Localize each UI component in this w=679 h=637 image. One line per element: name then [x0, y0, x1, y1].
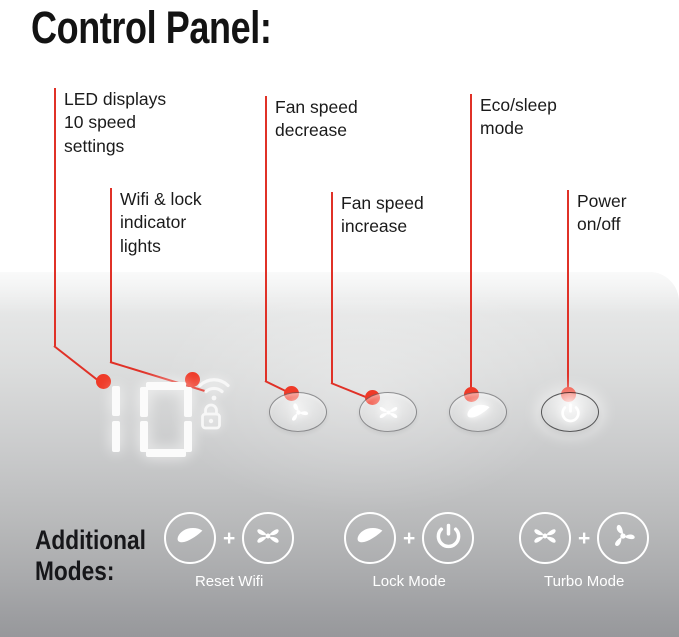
callout-fan-decrease: Fan speed decrease [275, 96, 358, 143]
leaf-icon [176, 526, 204, 551]
fan-3-blade-icon [609, 522, 637, 555]
plus-sign: + [578, 528, 590, 549]
control-panel-infographic: Control Panel: LED displays 10 speed set… [0, 0, 679, 637]
led-digit-0-seg-bottom-right [184, 421, 192, 452]
plus-sign: + [223, 528, 235, 549]
led-digit-1-seg-right-top [112, 386, 120, 416]
plus-sign: + [403, 528, 415, 549]
callout-fan-increase: Fan speed increase [341, 192, 424, 239]
fan-speed-increase-button[interactable] [359, 392, 417, 432]
led-digit-1-seg-right-bottom [112, 421, 120, 452]
led-digit-0-seg-bottom-left [140, 421, 148, 452]
led-digit-0-seg-top-left [140, 387, 148, 417]
callout-power: Power on/off [577, 190, 627, 237]
callout-eco-sleep: Eco/sleep mode [480, 94, 557, 141]
leader-line-led-display [54, 88, 56, 346]
mode-group-lock-mode: + Lock Mode [344, 512, 474, 590]
fan-3-blade-icon [287, 401, 310, 424]
fan-speed-decrease-button[interactable] [269, 392, 327, 432]
led-digit-0-seg-top [146, 382, 186, 390]
mode-row: + [164, 512, 294, 564]
leaf-icon-button[interactable] [344, 512, 396, 564]
led-display [100, 380, 210, 458]
fan-4-blade-icon [377, 401, 400, 424]
leader-line-fan-increase [331, 192, 333, 383]
eco-sleep-button[interactable] [449, 392, 507, 432]
mode-name-turbo-mode: Turbo Mode [544, 573, 624, 590]
leaf-icon-button[interactable] [164, 512, 216, 564]
mode-row: + [344, 512, 474, 564]
power-icon [560, 402, 581, 423]
leader-line-power [567, 190, 569, 394]
leader-line-eco-sleep [470, 94, 472, 394]
mode-name-reset-wifi: Reset Wifi [195, 573, 263, 590]
fan-4-blade-icon [254, 522, 282, 555]
fan-3-blade-icon-button[interactable] [597, 512, 649, 564]
fan-4-blade-icon-button[interactable] [242, 512, 294, 564]
power-button[interactable] [541, 392, 599, 432]
fan-4-blade-icon-button[interactable] [519, 512, 571, 564]
leader-line-indicator-lights [110, 188, 112, 362]
leaf-icon [466, 403, 491, 421]
additional-modes-label: Additional Modes: [35, 525, 146, 586]
led-digit-0-seg-top-right [184, 387, 192, 417]
mode-group-turbo-mode: + Turbo Mode [519, 512, 649, 590]
power-icon [435, 522, 462, 554]
led-digit-0-seg-bottom [146, 449, 186, 457]
callout-indicator-lights: Wifi & lock indicator lights [120, 188, 202, 258]
leader-line-fan-decrease [265, 96, 267, 381]
fan-4-blade-icon [531, 522, 559, 555]
callout-led-display: LED displays 10 speed settings [64, 88, 166, 158]
mode-row: + [519, 512, 649, 564]
mode-name-lock-mode: Lock Mode [372, 573, 445, 590]
lock-icon [198, 402, 224, 437]
leaf-icon [356, 526, 384, 551]
page-title: Control Panel: [31, 2, 271, 54]
power-icon-button[interactable] [422, 512, 474, 564]
mode-group-reset-wifi: + Reset Wifi [164, 512, 294, 590]
